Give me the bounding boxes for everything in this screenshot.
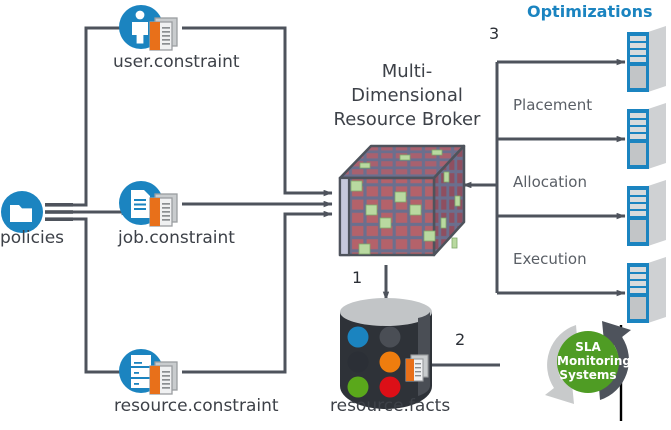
facts-dot-blue bbox=[348, 327, 369, 348]
user-constraint-icon[interactable] bbox=[119, 5, 177, 50]
resource-facts-icon[interactable] bbox=[340, 298, 432, 409]
server-rack-icon[interactable] bbox=[627, 26, 666, 92]
resource-constraint-icon[interactable] bbox=[119, 349, 177, 394]
optimization-label-placement: Placement bbox=[513, 96, 592, 114]
server-rack-icon[interactable] bbox=[627, 257, 666, 323]
document-stack-icon bbox=[150, 18, 177, 50]
broker-cube-icon[interactable] bbox=[340, 146, 464, 255]
facts-dot-gray-1 bbox=[380, 327, 401, 348]
job-constraint-label: job.constraint bbox=[118, 228, 235, 248]
broker-title-line-1: Multi- bbox=[322, 60, 492, 84]
step-marker-1: 1 bbox=[352, 268, 362, 287]
server-rack-icon[interactable] bbox=[627, 103, 666, 169]
document-stack-icon bbox=[150, 362, 177, 394]
facts-document-icon bbox=[406, 355, 428, 381]
policies-icon[interactable] bbox=[1, 191, 73, 233]
resource-constraint-label: resource.constraint bbox=[114, 396, 279, 416]
sla-label-line-2: Monitoring bbox=[557, 354, 619, 368]
optimization-label-execution: Execution bbox=[513, 250, 587, 268]
sla-label-line-3: Systems bbox=[557, 368, 619, 382]
server-rack-icon[interactable] bbox=[627, 180, 666, 246]
broker-title-line-2: Dimensional bbox=[322, 84, 492, 108]
step-marker-3: 3 bbox=[489, 24, 499, 43]
diagram-canvas: policies user.constraint job.constraint … bbox=[0, 0, 671, 430]
facts-dot-orange bbox=[380, 352, 401, 373]
step-marker-2: 2 bbox=[455, 330, 465, 349]
policies-label: policies bbox=[0, 228, 64, 248]
sla-label: SLA Monitoring Systems bbox=[557, 340, 619, 382]
sla-label-line-1: SLA bbox=[557, 340, 619, 354]
optimizations-title: Optimizations bbox=[527, 2, 653, 21]
job-constraint-icon[interactable] bbox=[119, 181, 177, 226]
broker-title: Multi- Dimensional Resource Broker bbox=[322, 60, 492, 132]
broker-title-line-3: Resource Broker bbox=[322, 108, 492, 132]
facts-dot-red bbox=[380, 377, 401, 398]
facts-dot-gray-2 bbox=[348, 352, 369, 373]
resource-facts-label: resource.facts bbox=[330, 396, 450, 416]
user-constraint-label: user.constraint bbox=[113, 52, 240, 72]
server-rack-group bbox=[627, 26, 666, 323]
facts-dot-green bbox=[348, 377, 369, 398]
document-stack-icon bbox=[150, 194, 177, 226]
optimization-label-allocation: Allocation bbox=[513, 173, 587, 191]
